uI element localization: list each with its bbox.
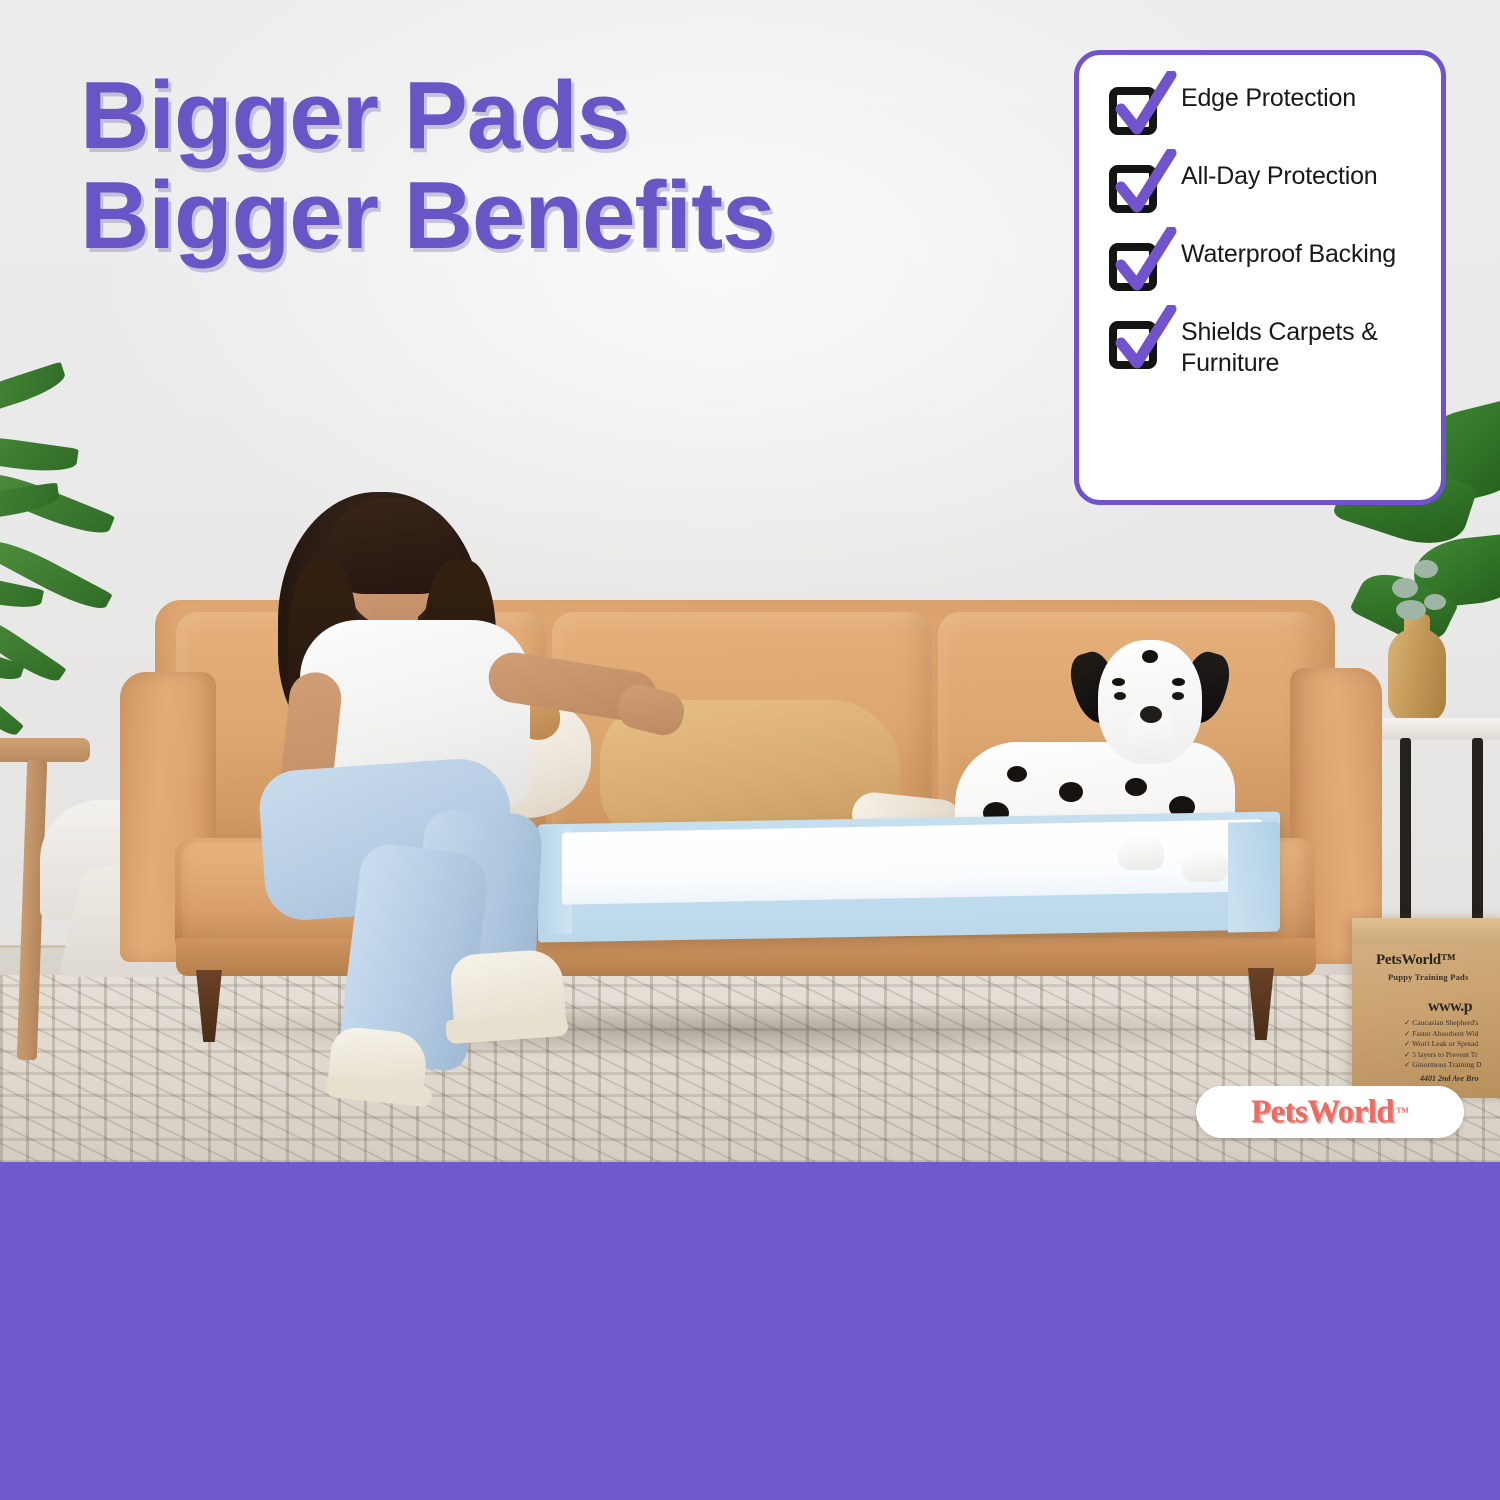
product-box: [1352, 918, 1500, 1098]
wooden-stool-top: [0, 738, 90, 762]
benefits-checklist-card: Edge ProtectionAll-Day ProtectionWaterpr…: [1074, 50, 1446, 505]
eucalyptus-leaf: [1414, 560, 1438, 578]
trademark-icon: ™: [1396, 1104, 1409, 1120]
dalmatian-eye: [1114, 692, 1126, 700]
checklist-item: Edge Protection: [1105, 81, 1423, 137]
side-table-leg: [1472, 738, 1483, 924]
checklist-item-label: Shields Carpets & Furniture: [1181, 315, 1423, 379]
checklist-item: All-Day Protection: [1105, 159, 1423, 215]
checkbox-checked-icon: [1105, 237, 1161, 293]
wooden-vase: [1388, 628, 1446, 723]
dalmatian-paw: [1118, 836, 1164, 870]
eucalyptus-leaf: [1392, 578, 1418, 598]
brand-logo: PetsWorld ™: [1196, 1086, 1464, 1138]
sofa-shadow: [120, 1000, 1360, 1060]
checkbox-checked-icon: [1105, 159, 1161, 215]
product-marketing-image: PetsWorld™ Puppy Training Pads www.p ✓ C…: [0, 0, 1500, 1500]
bottom-banner: More Coverage Fewer Replacements: [0, 1162, 1500, 1500]
product-box-feature: ✓ 5 layers to Prevent Tr: [1404, 1050, 1500, 1061]
checkbox-checked-icon: [1105, 81, 1161, 137]
checklist-item: Shields Carpets & Furniture: [1105, 315, 1423, 379]
product-box-feature: ✓ Won't Leak or Spread: [1404, 1039, 1500, 1050]
product-box-brand: PetsWorld™: [1376, 952, 1496, 969]
checklist-item-label: Edge Protection: [1181, 81, 1356, 114]
headline-line-1: Bigger Pads: [80, 66, 960, 166]
product-box-features: ✓ Caucasian Shepherd's✓ Faster Absorbent…: [1404, 1018, 1500, 1071]
brand-logo-text: PetsWorld: [1251, 1094, 1394, 1131]
dalmatian-paw: [1182, 848, 1228, 882]
product-box-subtitle: Puppy Training Pads: [1388, 972, 1500, 982]
eucalyptus-leaf: [1424, 594, 1446, 610]
product-box-feature: ✓ Caucasian Shepherd's: [1404, 1018, 1500, 1029]
training-pad-right-fold: [1228, 822, 1280, 933]
side-table-leg: [1400, 738, 1411, 928]
product-box-feature: ✓ Ginormous Training D: [1404, 1060, 1500, 1071]
checkbox-checked-icon: [1105, 315, 1161, 371]
product-box-flap: [1352, 918, 1500, 944]
dalmatian-eye: [1172, 692, 1184, 700]
product-box-feature: ✓ Faster Absorbent Wid: [1404, 1029, 1500, 1040]
headline-line-2: Bigger Benefits: [80, 166, 960, 266]
checklist-item-label: All-Day Protection: [1181, 159, 1377, 192]
checklist-item: Waterproof Backing: [1105, 237, 1423, 293]
checklist-item-label: Waterproof Backing: [1181, 237, 1396, 270]
eucalyptus-leaf: [1396, 600, 1426, 620]
dalmatian-nose: [1140, 706, 1162, 723]
page-title: Bigger Pads Bigger Benefits: [80, 66, 960, 266]
product-box-website: www.p: [1428, 998, 1472, 1016]
product-box-address: 4401 2nd Ave Bro: [1420, 1074, 1478, 1083]
